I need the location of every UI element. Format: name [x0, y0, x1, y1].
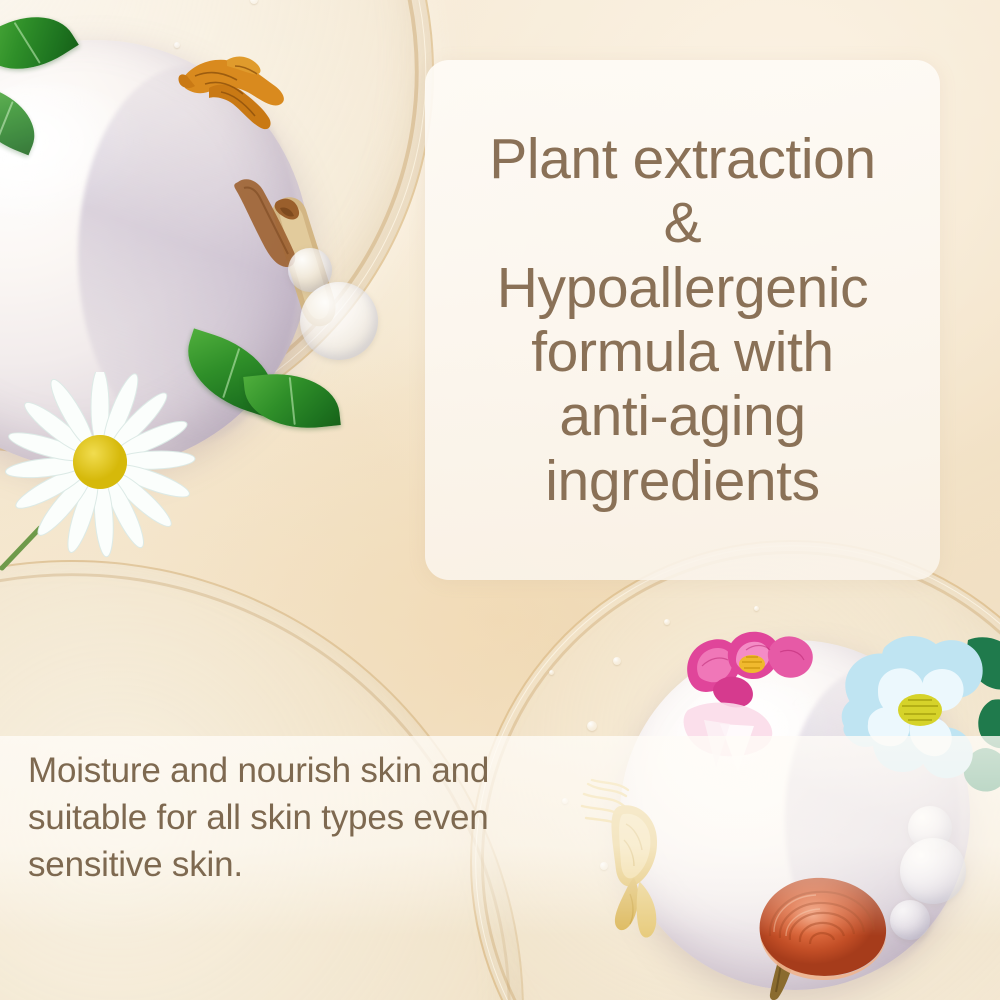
dried-root-botanical-icon — [165, 42, 295, 152]
headline-line-3: Hypoallergenic — [489, 256, 875, 320]
headline-line-5: anti-aging — [489, 384, 875, 448]
headline-line-4: formula with — [489, 320, 875, 384]
body-copy-text: Moisture and nourish skin and suitable f… — [28, 748, 618, 889]
body-copy-line-1: Moisture and nourish skin and — [28, 748, 618, 795]
body-copy-line-3: sensitive skin. — [28, 842, 618, 889]
product-feature-banner: Plant extraction & Hypoallergenic formul… — [0, 0, 1000, 1000]
headline-line-6: ingredients — [489, 449, 875, 513]
headline-text: Plant extraction & Hypoallergenic formul… — [475, 127, 889, 513]
water-bubble-large — [300, 282, 378, 360]
headline-line-2: & — [489, 191, 875, 255]
daisy-flower-icon — [0, 372, 200, 572]
headline-line-1: Plant extraction — [489, 127, 875, 191]
body-copy-line-2: suitable for all skin types even — [28, 795, 618, 842]
headline-card: Plant extraction & Hypoallergenic formul… — [425, 60, 940, 580]
